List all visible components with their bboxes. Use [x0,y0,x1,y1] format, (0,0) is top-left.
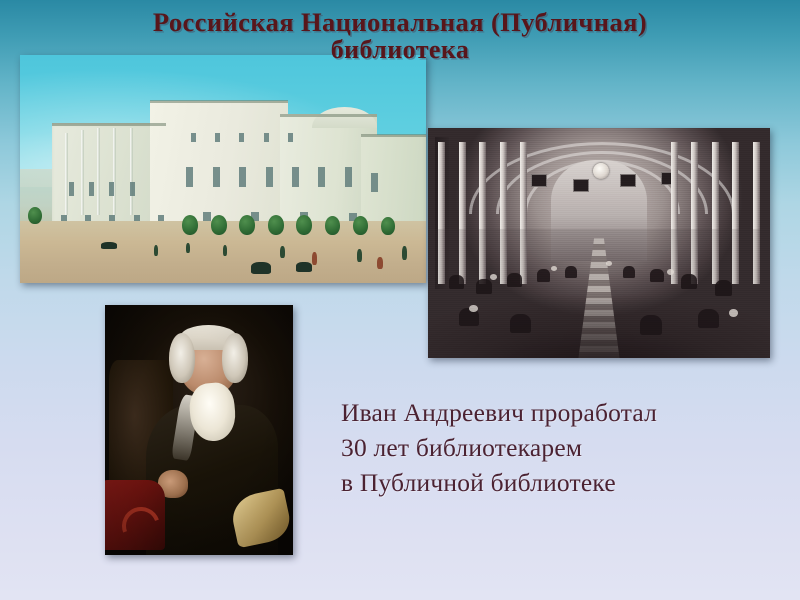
engraving-tree [182,215,198,235]
title-line-2: библиотека [0,36,800,64]
engraving-tree [211,215,227,235]
engraving-column [97,128,100,215]
engraving-tree [353,216,368,235]
presentation-slide: Российская Национальная (Публичная) библ… [0,0,800,600]
engraving-column [113,128,116,215]
library-building-engraving [20,55,426,283]
caption-line-1: Иван Андреевич проработал [341,396,771,431]
caption-line-2: 30 лет библиотекарем [341,431,771,466]
engraving-tree [325,216,340,235]
engraving-pedestrian [280,246,285,258]
title-line-1: Российская Национальная (Публичная) [0,8,800,36]
engraving-horse [251,262,271,274]
engraving-window [292,167,299,187]
engraving-pedestrian [377,257,383,269]
engraving-window [215,133,220,142]
engraving-window [266,167,273,187]
engraving-window [130,182,135,196]
engraving-window [318,167,325,187]
engraving-tree [296,215,312,235]
engraving-cornice [52,123,166,126]
engraving-window [69,182,74,196]
caption-line-3: в Публичной библиотеке [341,466,771,501]
slide-title: Российская Национальная (Публичная) библ… [0,8,800,64]
engraving-window [239,133,244,142]
engraving-cart [101,242,117,249]
engraving-tree [268,215,284,235]
engraving-tree [239,215,255,235]
slide-caption: Иван Андреевич проработал 30 лет библиот… [341,396,771,501]
engraving-tree [28,207,42,224]
engraving-window [264,133,269,142]
engraving-column [130,128,133,215]
engraving-window [371,173,378,192]
engraving-window [213,167,220,187]
engraving-pedestrian [357,249,362,262]
engraving-column [65,133,68,215]
engraving-cornice [361,134,426,137]
photo-grain-overlay [428,128,770,358]
engraving-pedestrian [312,252,317,265]
engraving-window [109,182,114,196]
engraving-column [81,130,84,214]
engraving-window [345,167,352,187]
engraving-window [288,133,293,142]
engraving-pedestrian [223,245,227,256]
engraving-window [191,133,196,142]
portrait-vignette [105,305,293,555]
engraving-pedestrian [154,245,158,256]
engraving-cornice [280,114,377,117]
engraving-tree [381,217,395,235]
engraving-pedestrian [402,246,407,260]
engraving-cornice [150,100,288,103]
reading-hall-photo [428,128,770,358]
engraving-window [239,167,246,187]
engraving-horse [296,262,312,272]
engraving-window [89,182,94,196]
engraving-window [186,167,193,187]
krylov-portrait [105,305,293,555]
